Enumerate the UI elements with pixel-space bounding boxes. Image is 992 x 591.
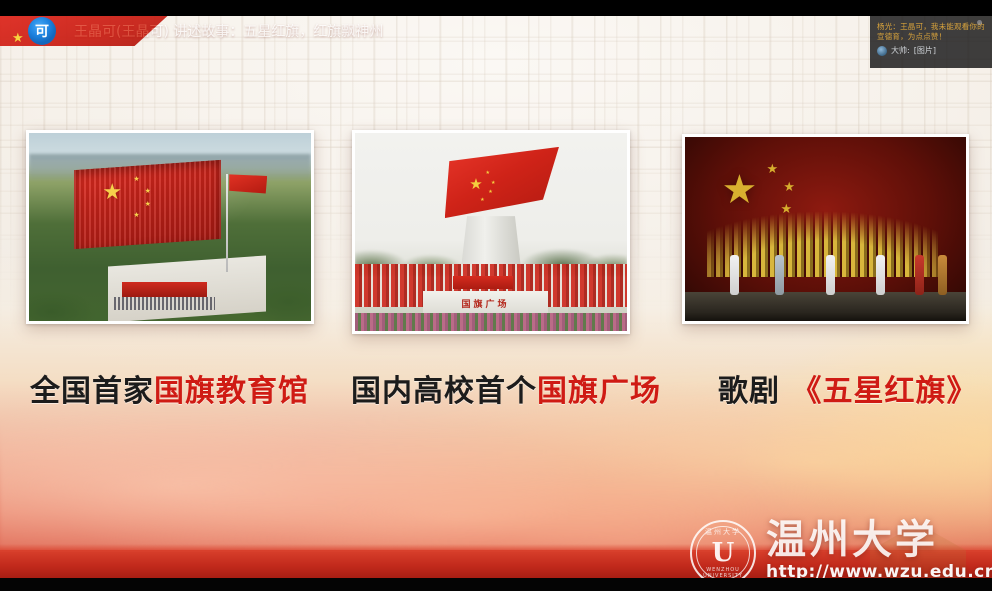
notification-message: 杨光：王晶可，我未能观看你的宣德育，为点点赞！ [877,22,986,42]
national-flag [229,174,267,194]
flag-star-small: ★ [491,181,495,186]
backdrop-star-small: ★ [783,181,795,194]
photo-card-opera: ★ ★ ★ ★ [682,134,969,324]
soloist [775,255,784,295]
photo-opera-stage: ★ ★ ★ ★ [685,137,966,321]
photo-card-group: ★ ★ ★ ★ ★ ★ ★ ★ [0,16,992,578]
caption-flag-square: 国内高校首个国旗广场 [351,377,661,407]
chat-message: 王晶可(王晶可) 讲述故事：五星红旗，红旗飘神州 [74,21,383,41]
flag-star-small: ★ [133,176,139,183]
caption-plain-text: 全国首家 [30,374,154,409]
monument-plinth: 国旗广场 [423,291,548,315]
notification-panel[interactable]: 杨光：王晶可，我未能观看你的宣德育，为点点赞！ 大帅: [图片] [870,16,992,68]
chat-avatar[interactable]: 可 [28,17,56,45]
soloist [915,255,924,295]
caption-highlight-text: 《五星红旗》 [791,374,977,409]
caption-highlight-text: 国旗教育馆 [154,374,309,409]
flag-star-small: ★ [145,188,151,195]
university-url[interactable]: http://www.wzu.edu.cn [766,560,992,578]
university-name: 温州大学 [766,520,992,560]
ribbon-star-icon: ★ [12,32,24,45]
video-stage: ★ ★ ★ ★ ★ ★ ★ ★ [0,0,992,591]
university-watermark: 温州大学 U WENZHOU UNIVERSITY 温州大学 http://ww… [690,514,982,578]
caption-flag-education-museum: 全国首家国旗教育馆 [30,377,309,407]
photo-flag-education-museum: ★ ★ ★ ★ ★ [29,133,311,321]
flag-star-large: ★ [102,182,122,204]
caption-plain-text: 国内高校首个 [351,374,537,409]
stage-floor [685,292,966,321]
notification-second-row: 大帅: [图片] [877,45,986,56]
photo-card-flag-square: ★ ★ ★ ★ ★ 国旗广场 [352,130,630,334]
sparkle-icon [977,20,982,25]
presentation-slide: ★ ★ ★ ★ ★ ★ ★ ★ [0,16,992,578]
flag-star-small: ★ [133,212,139,219]
caption-highlight-text: 国旗广场 [537,374,661,409]
soloist [730,255,739,295]
backdrop-star-small: ★ [766,163,778,176]
soloist [826,255,835,295]
caption-opera: 歌剧 《五星红旗》 [718,377,977,407]
flag-star-small: ★ [480,198,484,203]
ceremony-stage [122,282,207,297]
live-chat-overlay: ★ 可 王晶可(王晶可) 讲述故事：五星红旗，红旗飘神州 [0,16,992,46]
letterbox-top [0,0,992,16]
letterbox-bottom [0,578,992,591]
flag-star-small: ★ [486,171,490,176]
soloist [876,255,885,295]
backdrop-star-large: ★ [722,170,758,210]
flag-star-small: ★ [145,201,151,208]
caption-plain-text: 歌剧 [718,374,791,409]
seal-bottom-text: WENZHOU UNIVERSITY [690,567,756,578]
watermark-text-block: 温州大学 http://www.wzu.edu.cn [766,520,992,578]
university-seal-icon: 温州大学 U WENZHOU UNIVERSITY [690,520,756,578]
notification-sender: 大帅: [891,45,910,56]
flag-sculpture [445,147,559,218]
choir [707,211,937,277]
flag-pole [226,174,228,272]
photo-flag-square: ★ ★ ★ ★ ★ 国旗广场 [355,133,627,331]
soloist [938,255,947,295]
notification-body: [图片] [914,45,936,56]
monument-inscription: 国旗广场 [423,291,548,315]
flag-banner [453,276,513,290]
flower-bed [355,313,627,331]
notification-avatar [877,46,887,56]
crowd [114,297,216,310]
flag-star-small: ★ [488,190,492,195]
photo-card-flag-education-museum: ★ ★ ★ ★ ★ [26,130,314,324]
flag-star-large: ★ [469,177,482,192]
